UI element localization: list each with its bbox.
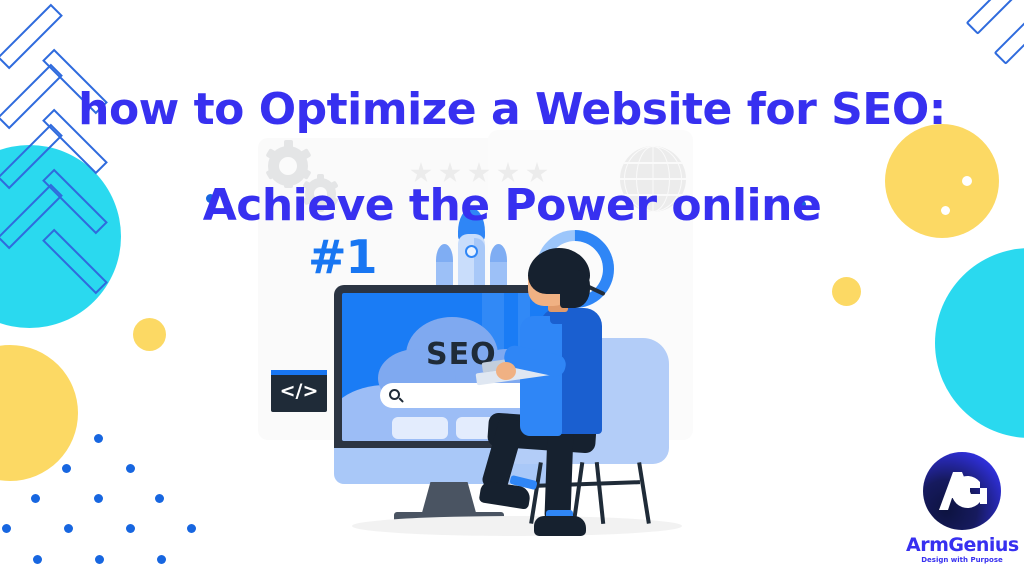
ag-monogram-icon (923, 452, 1001, 530)
person-lower-leg-back (544, 426, 573, 523)
chair-leg-mid (595, 462, 605, 524)
page-title: how to Optimize a Website for SEO: Achie… (0, 38, 1024, 278)
code-glyph: </> (280, 380, 319, 402)
page-title-line-1: how to Optimize a Website for SEO: (0, 86, 1024, 134)
person-hand (496, 362, 516, 380)
decor-yellow-circle-left (0, 345, 78, 481)
code-icon: </> (271, 370, 327, 412)
screen-button-left[interactable] (392, 417, 448, 439)
logo-mark-circle (923, 452, 1001, 530)
chair-leg-rear (572, 462, 585, 524)
brand-logo[interactable]: ArmGenius Design with Purpose (906, 452, 1018, 564)
logo-tagline: Design with Purpose (906, 556, 1018, 564)
poster-canvas: #1 </> (0, 0, 1024, 576)
decor-yellow-circle-small-left (133, 318, 166, 351)
search-icon-handle (398, 397, 404, 403)
page-title-line-2: Achieve the Power online (0, 182, 1024, 230)
chair-leg-right (637, 462, 651, 524)
logo-name: ArmGenius (906, 534, 1018, 556)
decor-yellow-circle-small-right (832, 277, 861, 306)
search-input[interactable] (380, 383, 532, 408)
person-shoe-back (534, 516, 586, 536)
floor-shadow (352, 516, 682, 536)
